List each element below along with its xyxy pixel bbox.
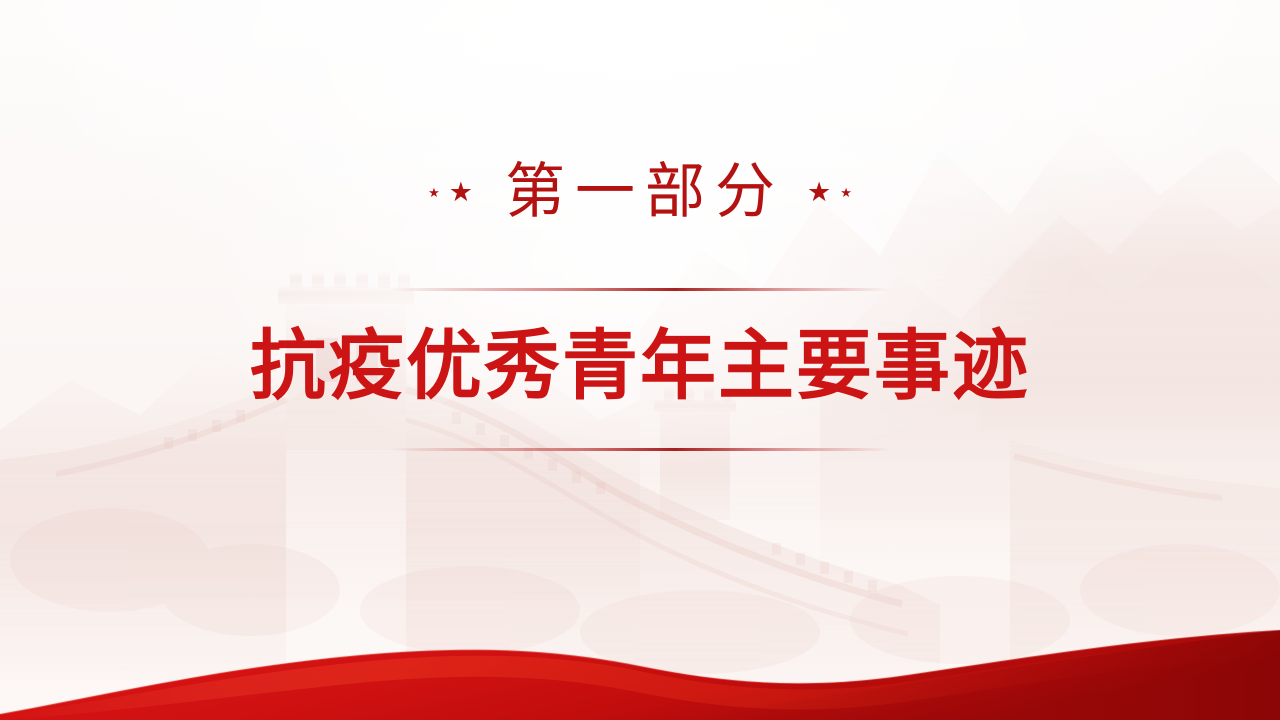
star-large-icon: ★ bbox=[807, 179, 831, 206]
slide-canvas: ★ ★ 第一部分 ★ ★ 抗疫优秀青年主要事迹 bbox=[0, 0, 1280, 720]
star-group-right: ★ ★ bbox=[807, 179, 852, 206]
divider-bottom bbox=[390, 448, 890, 451]
star-large-icon: ★ bbox=[449, 179, 473, 206]
section-title-row: ★ ★ 第一部分 ★ ★ bbox=[0, 152, 1280, 232]
divider-top bbox=[390, 288, 890, 291]
star-small-icon: ★ bbox=[428, 186, 440, 199]
section-label: 第一部分 bbox=[495, 162, 785, 222]
bottom-wave-ribbon bbox=[0, 610, 1280, 720]
star-group-left: ★ ★ bbox=[428, 179, 473, 206]
page-title: 抗疫优秀青年主要事迹 bbox=[0, 326, 1280, 408]
star-small-icon: ★ bbox=[840, 186, 852, 199]
